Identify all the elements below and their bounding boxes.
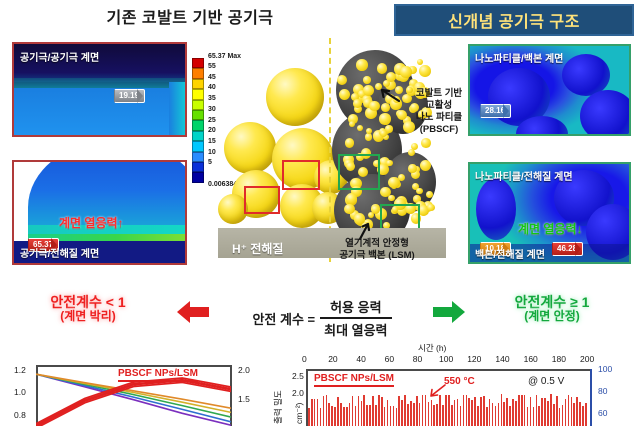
chart-x-tick: 80 [413,354,422,364]
legend-tick-label: 55 [208,63,216,70]
legend-swatch [192,131,204,141]
contour-blob [580,90,631,136]
chart-x-tick: 40 [356,354,365,364]
safety-factor-left-main: 안전계수 < 1 [50,294,125,310]
durability-bar [323,396,325,426]
durability-bar [483,396,485,426]
contour-band-blue [14,88,185,137]
durability-bar [451,405,453,426]
legend-tick-label: 15 [208,138,216,145]
chart-bars-area [308,392,588,426]
chart-y2-tick: 100 [598,364,612,374]
legend-swatch [192,100,204,110]
highlight-box-electrode-electrolyte [244,186,280,214]
durability-bar [489,399,491,426]
sim-panel-caption: 나노파티클/전해질 계면 [475,168,573,183]
iv-curve [36,374,231,408]
durability-bar [471,400,473,426]
legend-swatch [192,58,204,68]
formula-fraction: 허용 응력 최대 열응력 [320,297,391,339]
durability-bar [314,399,316,426]
chart-y2-tick: 2.0 [238,365,250,375]
legend-swatch [192,141,204,151]
highlight-box-electrode-electrode [282,160,320,190]
durability-bar [337,397,339,426]
contour-blob [476,178,516,240]
durability-bar [515,401,517,426]
legend-swatch [192,79,204,89]
pbscf-nanoparticle [363,76,370,83]
chart-x-tick: 60 [385,354,394,364]
durability-bar [524,395,526,426]
chart-plot-area [36,366,231,426]
arrow-right-icon [432,300,466,324]
durability-bar [571,397,573,426]
legend-tick-label: 10 [208,149,216,156]
durability-bar [311,399,313,426]
durability-bar [454,400,456,426]
durability-bar [565,399,567,426]
durability-bar [562,405,564,426]
formula-lhs: 안전 계수 = [252,309,315,328]
durability-bar [308,408,310,426]
sim-panel-nano-backbone: 나노파티클/백본 계면 28.16 [468,44,631,136]
arrow-to-backbone-icon [356,220,374,240]
legend-tick-label: 25 [208,117,216,124]
durability-bar [381,397,383,426]
legend-tick-label: 5 [208,159,212,166]
sim-panel-nano-electrolyte: 나노파티클/전해질 계면 계면 열응력↓ 10.18 46.28 백본/전해질 … [468,162,631,264]
highlight-box-nano-backbone [338,154,380,190]
durability-chart: 시간 (h) 020406080100120140160180200 2.5 2… [300,342,640,426]
pbscf-nanoparticle [408,164,417,173]
durability-bar [536,395,538,426]
electrode-microstructure-schematic [218,34,446,242]
safety-factor-left: 안전계수 < 1 (계면 박리) [8,294,168,324]
stress-value-badge: 28.16 [480,104,511,118]
legend-swatch [192,110,204,120]
page-title-left: 기존 코발트 기반 공기극 [60,4,320,28]
chart-y2-axis [590,369,592,426]
durability-bar [378,395,380,426]
durability-bar [457,399,459,426]
arrow-left-icon [176,300,210,324]
chart-x-tick: 20 [328,354,337,364]
durability-bar [404,395,406,426]
durability-bar [533,407,535,426]
legend-tick-label: 20 [208,127,216,134]
durability-bar [398,396,400,426]
durability-bar [317,399,319,426]
callout-line: 공기극 백본 (LSM) [312,250,442,262]
durability-bar [579,402,581,426]
durability-bar [509,406,511,426]
durability-bar [527,407,529,426]
durability-bar [492,403,494,426]
legend-swatch [192,172,204,182]
durability-bar [477,406,479,426]
chart-x-axis-label: 시간 (h) [418,342,446,354]
durability-bar [448,395,450,426]
legend-swatches [192,58,204,183]
durability-bar [541,398,543,426]
durability-bar [416,396,418,426]
pbscf-nanoparticle [346,193,357,204]
durability-bar [503,402,505,426]
safety-factor-left-sub: (계면 박리) [8,310,168,324]
voltage-annotation: @ 0.5 V [528,376,564,387]
durability-bar [331,406,333,426]
page-title-right-box: 신개념 공기극 구조 [394,4,634,36]
sim-panel-electrode-electrolyte: 계면 열응력↑ 65.37 공기극/전해질 계면 [12,160,187,265]
durability-bar [393,406,395,426]
durability-bar [384,407,386,426]
durability-bar [363,395,365,426]
backbone-callout: 열기계적 안정형 공기극 백본 (LSM) [312,238,442,262]
chart-y2-tick: 60 [598,408,607,418]
sim-panel-caption: 공기극/전해질 계면 [20,245,99,260]
legend-swatch [192,162,204,172]
pbscf-nanoparticle [386,160,393,167]
safety-factor-formula: 안전 계수 = 허용 응력 최대 열응력 [214,292,430,344]
chart-y-tick: 0.8 [14,410,26,420]
durability-bar [343,407,345,426]
legend-swatch [192,152,204,162]
chart-title: PBSCF NPs/LSM [314,373,394,387]
sim-panel-caption: 나노파티클/백본 계면 [475,50,563,65]
durability-bar [346,407,348,426]
durability-bar [538,406,540,426]
durability-bar [361,401,363,426]
pbscf-nanoparticle [377,63,387,73]
durability-bar [436,404,438,426]
legend-tick-label: 30 [208,106,216,113]
electrolyte-label: H⁺ 전해질 [232,240,283,257]
durability-bar [387,400,389,426]
pbscf-nanoparticle [416,188,422,194]
chart-x-tick: 180 [552,354,566,364]
durability-bar [355,406,357,426]
legend-tick-label: 45 [208,74,216,81]
legend-swatch [192,68,204,78]
durability-bar [413,403,415,426]
legend-tick-label: 35 [208,95,216,102]
formula-numerator: 허용 응력 [326,297,385,317]
pbscf-nanoparticle [421,138,431,148]
durability-bar [518,395,520,426]
durability-bar [349,403,351,426]
durability-bar [553,404,555,426]
durability-bar [410,401,412,426]
chart-y-tick: 2.0 [292,388,304,398]
figure-canvas: 기존 코발트 기반 공기극 신개념 공기극 구조 공기극/공기극 계면 19.1… [0,0,640,426]
durability-bar [431,400,433,426]
safety-factor-right-sub: (계면 안정) [470,310,634,324]
chart-y-tick: 1.2 [14,365,26,375]
durability-bar [326,395,328,426]
durability-bar [530,397,532,426]
pbscf-nanoparticle [380,130,387,137]
iv-power-density-chart: 1.2 1.0 0.8 2.0 1.5 출력 밀도 PBSCF NPs/LSM [0,358,300,426]
durability-bar [401,400,403,426]
durability-bar [445,395,447,426]
safety-factor-right-main: 안전계수 ≥ 1 [515,294,590,310]
durability-bar [419,403,421,426]
durability-bar [439,395,441,426]
durability-bar [498,403,500,426]
durability-bar [442,405,444,426]
legend-swatch [192,120,204,130]
durability-bar [366,405,368,426]
durability-bar [428,402,430,426]
stress-color-legend: 65.37 Max 55 45 40 35 30 25 20 15 10 5 0… [192,58,204,183]
durability-bar [320,408,322,426]
durability-bar [372,396,374,426]
durability-bar [328,403,330,426]
sim-panel-caption: 공기극/공기극 계면 [20,49,99,64]
durability-bar [568,395,570,426]
formula-denominator: 최대 열응력 [320,317,391,339]
pbscf-nanoparticle [381,103,390,112]
chart-x-tick: 140 [495,354,509,364]
sim-panel-electrode-electrode: 공기극/공기극 계면 19.19 [12,42,187,137]
sim-panel-caption-secondary: 백본/전해질 계면 [475,246,545,261]
durability-bar [547,401,549,426]
chart-y2-tick: 80 [598,386,607,396]
chart-y2-tick: 1.5 [238,394,250,404]
durability-bar [521,395,523,426]
durability-bar [433,405,435,426]
legend-tick-label: 40 [208,84,216,91]
pbscf-nanoparticle [356,59,368,71]
pbscf-nanoparticle [344,204,355,215]
legend-swatch [192,89,204,99]
chart-x-tick: 0 [302,354,307,364]
durability-bar [480,397,482,426]
durability-bar [585,403,587,426]
cobalt-particle [224,122,276,174]
durability-bar [556,396,558,426]
pbscf-nanoparticle [400,66,411,77]
chart-y-axis-unit: cm⁻²) [294,403,305,424]
chart-y2-axis-label: 출력 밀도 [272,390,284,424]
durability-bar [463,395,465,426]
pbscf-nanoparticle [379,113,391,125]
safety-factor-right: 안전계수 ≥ 1 (계면 안정) [470,294,634,324]
durability-bar [340,403,342,426]
durability-bar [468,398,470,426]
durability-bar [495,406,497,426]
pbscf-nanoparticle [353,99,362,108]
durability-bar [573,403,575,426]
durability-bar [506,398,508,426]
durability-bar [501,394,503,426]
cobalt-particle [266,68,324,126]
durability-bar [369,405,371,426]
durability-bar [390,406,392,426]
durability-bar [576,397,578,426]
durability-bar [422,395,424,426]
durability-bar [358,396,360,426]
interface-stress-label: 계면 열응력↑ [59,214,124,231]
durability-bar [352,396,354,426]
durability-bar [582,406,584,426]
chart-x-tick: 120 [467,354,481,364]
contour-edge-gradient [169,82,185,137]
durability-bar [460,406,462,426]
chart-y-tick: 2.5 [292,371,304,381]
durability-bar [425,395,427,426]
page-title-right: 신개념 공기극 구조 [448,8,580,32]
power-density-curve [36,382,231,426]
interface-stress-label: 계면 열응력↓ [518,220,583,237]
durability-bar [407,404,409,426]
pbscf-nanoparticle [427,204,435,212]
callout-line: 열기계적 안정형 [312,238,442,250]
durability-bar [559,408,561,426]
stress-value-badge-right: 46.28 [552,242,583,256]
durability-bar [375,405,377,426]
durability-bar [334,407,336,426]
chart-y-tick: 1.0 [14,387,26,397]
pbscf-nanoparticle [419,65,431,77]
stress-value-badge: 19.19 [114,89,145,103]
durability-bar [512,399,514,426]
durability-bar [396,408,398,426]
durability-bar [466,395,468,426]
chart-x-axis [306,369,592,371]
chart-x-tick: 100 [439,354,453,364]
chart-x-tick: 200 [580,354,594,364]
durability-bar [550,394,552,426]
durability-bar [544,398,546,426]
temperature-annotation: 550 °C [444,376,475,387]
durability-bar [486,407,488,426]
pbscf-nanoparticle [426,191,433,198]
chart-x-tick: 160 [524,354,538,364]
durability-bar [474,397,476,426]
